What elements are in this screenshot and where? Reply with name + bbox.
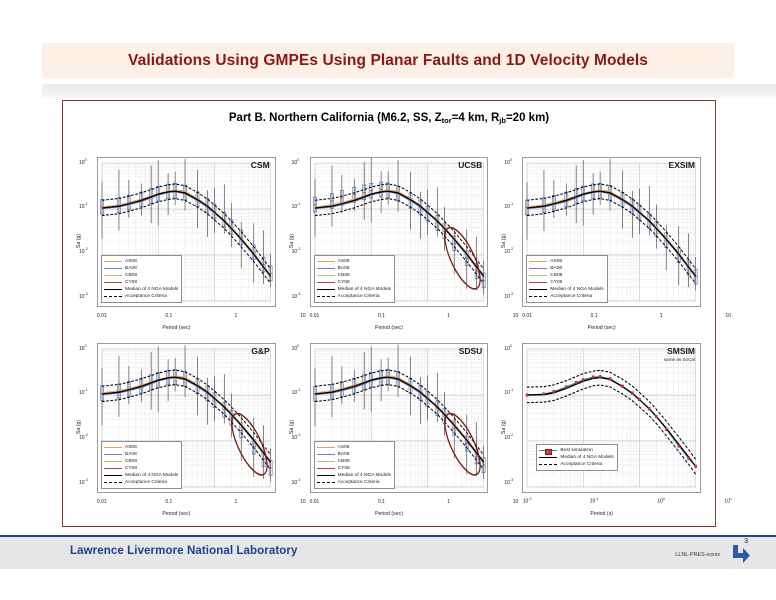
legend-item-ba08[interactable]: BA08: [317, 451, 391, 458]
y-tick: 10-2: [504, 433, 513, 441]
panel-label-text: G&P: [251, 346, 269, 356]
subtitle-sub-rjb: jb: [499, 116, 506, 125]
y-tick: 10-3: [292, 478, 301, 486]
legend-item-cb08[interactable]: CB08: [104, 272, 178, 279]
y-tick: 10-2: [292, 247, 301, 255]
x-tick: 0.1: [165, 313, 172, 319]
legend-swatch: [104, 454, 122, 455]
legend-label: CY08: [338, 465, 350, 472]
footer-bottom-margin: [0, 569, 776, 600]
legend-label: AS08: [125, 258, 137, 265]
legend-swatch: [104, 261, 122, 262]
legend-item-cy08[interactable]: CY08: [104, 279, 178, 286]
y-tick: 100: [79, 344, 87, 352]
chart-panel-smsim: Sa (g) SMSIM same as SoCal Best simulati…: [496, 335, 707, 519]
legend-label: BA08: [125, 265, 137, 272]
plot-area-ucsb: UCSB AS08BA08CB08CY08Median of 4 NGA Mod…: [310, 157, 489, 307]
legend-swatch: [539, 464, 557, 465]
slide: Validations Using GMPEs Using Planar Fau…: [0, 0, 776, 600]
legend-label: CY08: [550, 279, 562, 286]
legend-item-median-of-4-nga-models[interactable]: Median of 4 NGA Models: [317, 472, 391, 479]
legend-label: AS08: [550, 258, 562, 265]
legend-item-cy08[interactable]: CY08: [317, 279, 391, 286]
panel-label-text: SDSU: [459, 346, 483, 356]
legend-swatch: [104, 461, 122, 462]
legend-swatch: [104, 268, 122, 269]
legend-swatch: [317, 475, 335, 476]
x-axis-label: Period (sec): [496, 325, 707, 331]
x-tick: 0.1: [165, 499, 172, 505]
y-tick: 10-1: [504, 389, 513, 397]
legend-label: CB08: [125, 272, 137, 279]
title-underband: [0, 84, 776, 98]
legend-label: Acceptance Criteria: [338, 479, 380, 486]
legend-label: Acceptance Criteria: [560, 461, 602, 468]
legend-swatch: [539, 457, 557, 458]
legend-item-median-of-4-nga-models[interactable]: Median of 4 NGA Models: [104, 472, 178, 479]
page-title: Validations Using GMPEs Using Planar Fau…: [128, 52, 648, 70]
legend-label: CY08: [125, 465, 137, 472]
x-tick: 10-2: [523, 497, 532, 505]
legend-label: AS08: [338, 258, 350, 265]
legend-item-ba08[interactable]: BA08: [529, 265, 603, 272]
x-tick: 0.1: [378, 499, 385, 505]
x-tick: 10-1: [590, 497, 599, 505]
legend-item-median-of-4-nga-models[interactable]: Median of 4 NGA Models: [317, 286, 391, 293]
x-tick: 1: [660, 313, 663, 319]
legend-swatch: [529, 289, 547, 290]
legend-item-cb08[interactable]: CB08: [529, 272, 603, 279]
x-tick: 0.01: [522, 313, 532, 319]
legend-label: BA08: [338, 265, 350, 272]
y-tick: 100: [292, 344, 300, 352]
legend-item-as08[interactable]: AS08: [104, 258, 178, 265]
y-tick: 100: [504, 344, 512, 352]
legend-swatch: [317, 454, 335, 455]
x-axis-label: Period (sec): [284, 325, 495, 331]
x-tick: 101: [724, 497, 732, 505]
y-tick: 10-3: [79, 478, 88, 486]
content-frame: Part B. Northern California (M6.2, SS, Z…: [62, 100, 716, 527]
chart-legend: AS08BA08CB08CY08Median of 4 NGA ModelsAc…: [101, 441, 182, 489]
y-tick: 10-1: [292, 389, 301, 397]
y-axis-label: Sa (g): [501, 420, 507, 434]
legend-label: AS08: [338, 444, 350, 451]
legend-item-acceptance-criteria[interactable]: Acceptance Criteria: [529, 293, 603, 300]
legend-label: CB08: [125, 458, 137, 465]
footer-report-code: LLNL-PRES-xxxxx: [675, 552, 720, 558]
legend-swatch: [317, 447, 335, 448]
y-tick: 10-3: [79, 292, 88, 300]
y-tick: 10-1: [504, 203, 513, 211]
x-tick: 0.1: [378, 313, 385, 319]
y-tick: 10-2: [79, 433, 88, 441]
panel-note: same as SoCal: [664, 357, 695, 362]
x-tick: 10: [725, 313, 731, 319]
legend-swatch: [104, 447, 122, 448]
legend-swatch: [317, 461, 335, 462]
plot-area-exsim: EXSIM AS08BA08CB08CY08Median of 4 NGA Mo…: [522, 157, 701, 307]
legend-swatch: [317, 268, 335, 269]
legend-item-as08[interactable]: AS08: [317, 444, 391, 451]
legend-label: CY08: [338, 279, 350, 286]
legend-label: Median of 4 NGA Models: [550, 286, 603, 293]
legend-item-median-of-4-nga-models[interactable]: Median of 4 NGA Models: [529, 286, 603, 293]
legend-item-cy08[interactable]: CY08: [529, 279, 603, 286]
legend-label: Median of 4 NGA Models: [338, 286, 391, 293]
left-margin: [0, 0, 42, 535]
plot-area-smsim: SMSIM same as SoCal Best simulationMedia…: [522, 343, 701, 493]
legend-item-cy08[interactable]: CY08: [317, 465, 391, 472]
legend-swatch: [104, 468, 122, 469]
legend-label: Acceptance Criteria: [550, 293, 592, 300]
x-axis-label: Period (sec): [71, 511, 282, 517]
y-tick: 10-3: [504, 478, 513, 486]
legend-label: BA08: [550, 265, 562, 272]
legend-item-cb08[interactable]: CB08: [104, 458, 178, 465]
x-axis-label: Period (sec): [284, 511, 495, 517]
chart-legend: AS08BA08CB08CY08Median of 4 NGA ModelsAc…: [101, 255, 182, 303]
subtitle-lead: Part B. Northern California (M6.2, SS, Z: [229, 112, 442, 124]
chart-legend: AS08BA08CB08CY08Median of 4 NGA ModelsAc…: [314, 441, 395, 489]
panel-label-text: CSM: [251, 160, 270, 170]
chart-panel-gp: Sa (g) G&P AS08BA08CB08CY08Median of 4 N…: [71, 335, 282, 519]
subtitle-mid: =4 km, R: [452, 112, 500, 124]
legend-label: Median of 4 NGA Models: [125, 286, 178, 293]
legend-swatch: [104, 275, 122, 276]
x-axis-label: Period (sec): [71, 325, 282, 331]
legend-item-ba08[interactable]: BA08: [104, 451, 178, 458]
x-tick: 0.01: [97, 313, 107, 319]
y-tick: 10-3: [292, 292, 301, 300]
chart-panel-exsim: Sa (g) EXSIM AS08BA08CB08CY08Median of 4…: [496, 149, 707, 333]
legend-swatch: [317, 282, 335, 283]
legend-label: Acceptance Criteria: [338, 293, 380, 300]
legend-swatch: [104, 482, 122, 483]
y-tick: 10-2: [79, 247, 88, 255]
legend-label: CB08: [550, 272, 562, 279]
panel-label-exsim: EXSIM: [669, 161, 695, 171]
legend-swatch: [529, 268, 547, 269]
y-axis-label: Sa (g): [501, 234, 507, 248]
legend-item-best-simulation[interactable]: Best simulation: [539, 447, 613, 454]
chart-legend: AS08BA08CB08CY08Median of 4 NGA ModelsAc…: [526, 255, 607, 303]
legend-swatch: [104, 282, 122, 283]
chart-legend: AS08BA08CB08CY08Median of 4 NGA ModelsAc…: [314, 255, 395, 303]
panel-label-gp: G&P: [251, 347, 269, 357]
legend-label: AS08: [125, 444, 137, 451]
x-tick: 1: [447, 499, 450, 505]
legend-item-as08[interactable]: AS08: [317, 258, 391, 265]
x-tick: 1: [234, 499, 237, 505]
legend-swatch: [104, 296, 122, 297]
y-axis-label: Sa (g): [76, 234, 82, 248]
legend-label: BA08: [125, 451, 137, 458]
legend-label: CY08: [125, 279, 137, 286]
x-tick: 1: [234, 313, 237, 319]
legend-item-acceptance-criteria[interactable]: Acceptance Criteria: [317, 479, 391, 486]
legend-label: Acceptance Criteria: [125, 293, 167, 300]
chart-panel-sdsu: Sa (g) SDSU AS08BA08CB08CY08Median of 4 …: [284, 335, 495, 519]
legend-swatch: [529, 282, 547, 283]
legend-swatch: [317, 289, 335, 290]
llnl-logo-icon: [730, 544, 752, 569]
y-tick: 10-1: [79, 389, 88, 397]
legend-item-ba08[interactable]: BA08: [104, 265, 178, 272]
legend-label: Best simulation: [560, 447, 593, 454]
legend-swatch: [104, 475, 122, 476]
chart-panel-ucsb: Sa (g) UCSB AS08BA08CB08CY08Median of 4 …: [284, 149, 495, 333]
legend-item-cb08[interactable]: CB08: [317, 458, 391, 465]
legend-swatch: [539, 450, 557, 451]
panel-label-text: EXSIM: [669, 160, 695, 170]
panel-label-csm: CSM: [251, 161, 270, 171]
legend-item-cb08[interactable]: CB08: [317, 272, 391, 279]
legend-swatch: [317, 468, 335, 469]
legend-label: Median of 4 NGA Models: [125, 472, 178, 479]
legend-item-median-of-4-nga-models[interactable]: Median of 4 NGA Models: [104, 286, 178, 293]
y-tick: 100: [79, 158, 87, 166]
y-axis-label: Sa (g): [76, 420, 82, 434]
y-tick: 100: [504, 158, 512, 166]
legend-swatch: [529, 296, 547, 297]
panel-label-smsim: SMSIM same as SoCal: [664, 347, 695, 362]
panel-grid: Sa (g) CSM AS08BA08CB08CY08Median of 4 N…: [71, 149, 707, 519]
x-tick: 0.1: [591, 313, 598, 319]
legend-item-as08[interactable]: AS08: [529, 258, 603, 265]
x-tick: 0.01: [97, 499, 107, 505]
legend-label: Median of 4 NGA Models: [338, 472, 391, 479]
x-axis-label: Period (s): [496, 511, 707, 517]
legend-swatch: [317, 261, 335, 262]
legend-swatch: [529, 261, 547, 262]
y-tick: 10-2: [292, 433, 301, 441]
legend-swatch: [104, 289, 122, 290]
legend-swatch: [529, 275, 547, 276]
x-tick: 0.01: [310, 313, 320, 319]
legend-item-ba08[interactable]: BA08: [317, 265, 391, 272]
legend-label: CB08: [338, 272, 350, 279]
legend-item-acceptance-criteria[interactable]: Acceptance Criteria: [104, 293, 178, 300]
legend-label: BA08: [338, 451, 350, 458]
subtitle-tail: =20 km): [506, 112, 549, 124]
panel-label-sdsu: SDSU: [459, 347, 483, 357]
legend-label: Median of 4 NGA Models: [560, 454, 613, 461]
x-tick: 0.01: [310, 499, 320, 505]
panel-label-ucsb: UCSB: [458, 161, 482, 171]
legend-item-acceptance-criteria[interactable]: Acceptance Criteria: [539, 461, 613, 468]
legend-item-acceptance-criteria[interactable]: Acceptance Criteria: [104, 479, 178, 486]
plot-area-gp: G&P AS08BA08CB08CY08Median of 4 NGA Mode…: [97, 343, 276, 493]
y-tick: 10-1: [292, 203, 301, 211]
y-axis-label: Sa (g): [289, 420, 295, 434]
x-tick: 1: [447, 313, 450, 319]
legend-swatch: [317, 296, 335, 297]
legend-item-as08[interactable]: AS08: [104, 444, 178, 451]
legend-item-cy08[interactable]: CY08: [104, 465, 178, 472]
slide-title-banner: Validations Using GMPEs Using Planar Fau…: [42, 43, 734, 78]
y-tick: 10-2: [504, 247, 513, 255]
legend-item-acceptance-criteria[interactable]: Acceptance Criteria: [317, 293, 391, 300]
legend-label: Acceptance Criteria: [125, 479, 167, 486]
panel-label-text: UCSB: [458, 160, 482, 170]
chart-legend: Best simulationMedian of 4 NGA ModelsAcc…: [536, 444, 617, 471]
footer-organization: Lawrence Livermore National Laboratory: [70, 545, 297, 557]
y-tick: 100: [292, 158, 300, 166]
plot-area-sdsu: SDSU AS08BA08CB08CY08Median of 4 NGA Mod…: [310, 343, 489, 493]
legend-label: CB08: [338, 458, 350, 465]
chart-panel-csm: Sa (g) CSM AS08BA08CB08CY08Median of 4 N…: [71, 149, 282, 333]
y-axis-label: Sa (g): [289, 234, 295, 248]
plot-area-csm: CSM AS08BA08CB08CY08Median of 4 NGA Mode…: [97, 157, 276, 307]
figure-subtitle: Part B. Northern California (M6.2, SS, Z…: [63, 112, 715, 124]
y-tick: 10-3: [504, 292, 513, 300]
legend-swatch: [317, 482, 335, 483]
x-tick: 100: [657, 497, 665, 505]
panel-label-text: SMSIM: [667, 346, 695, 356]
y-tick: 10-1: [79, 203, 88, 211]
legend-swatch: [317, 275, 335, 276]
subtitle-sub-ztor: tor: [442, 116, 452, 125]
